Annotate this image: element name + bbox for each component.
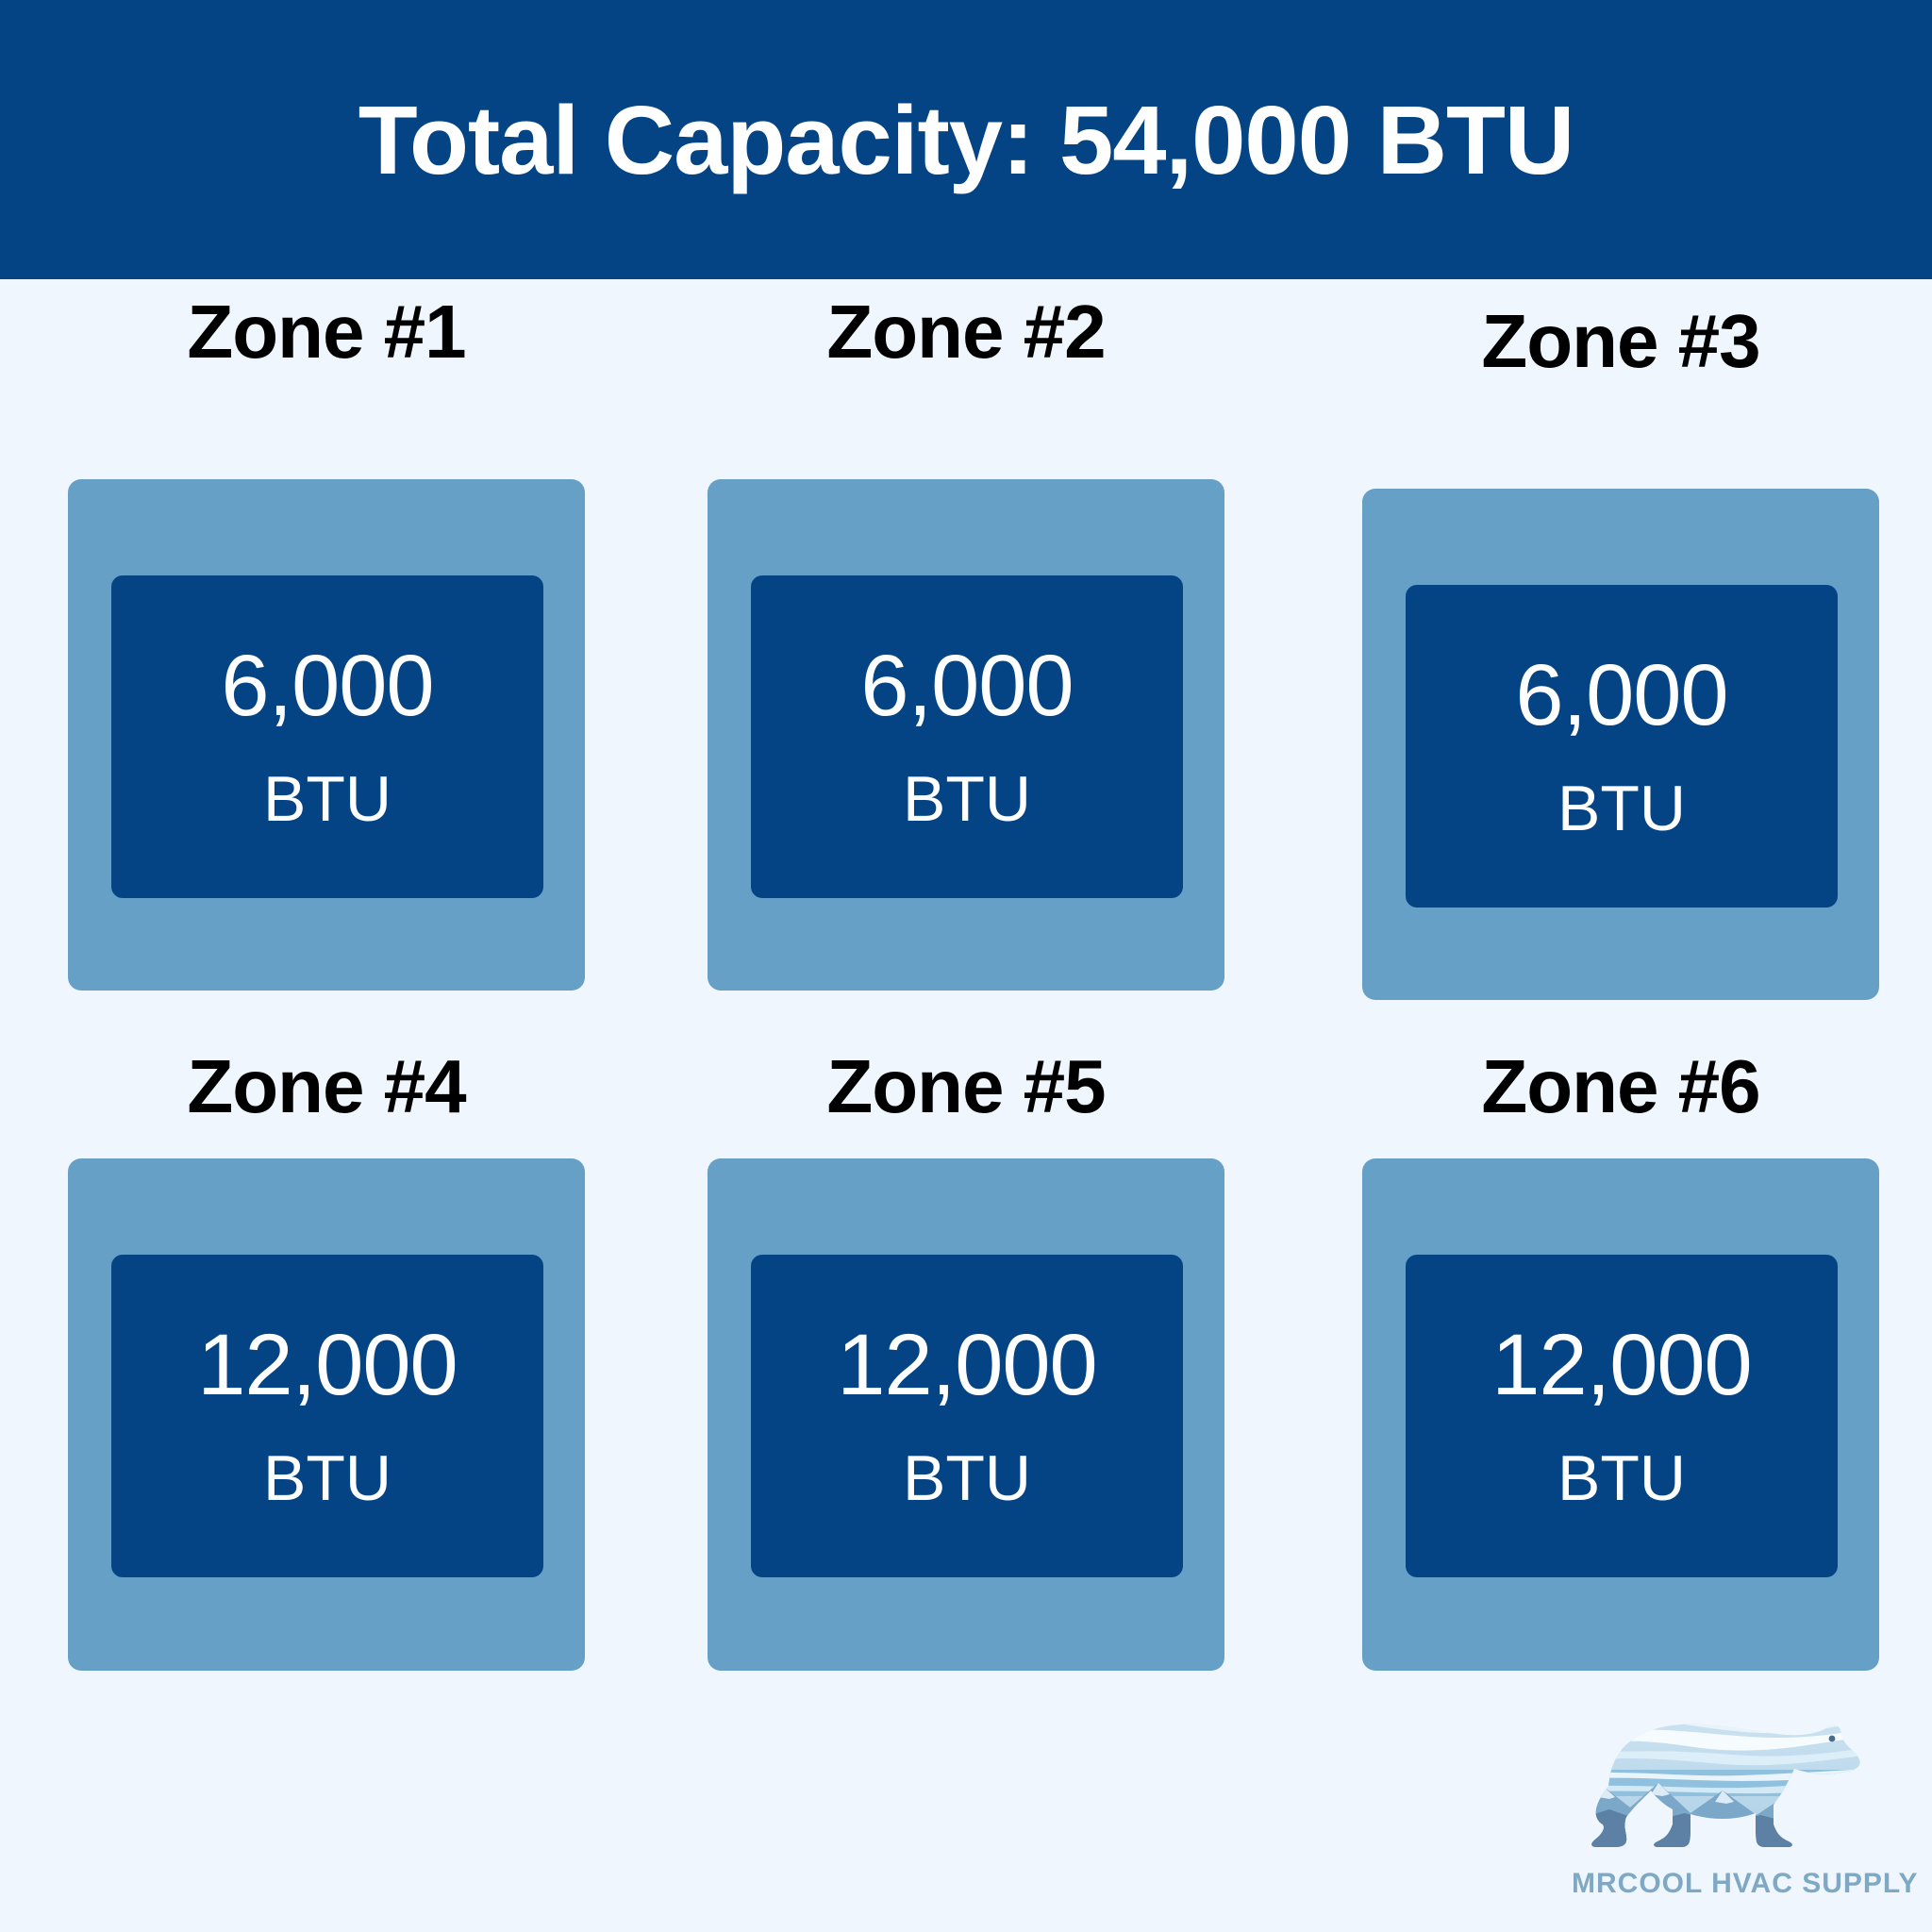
zone-card-4[interactable]: Zone #4 12,000 BTU bbox=[68, 1034, 585, 1675]
zone-btu-value-4: 12,000 bbox=[197, 1322, 457, 1408]
polar-bear-icon bbox=[1572, 1704, 1883, 1866]
zone-card-2[interactable]: Zone #2 6,000 BTU bbox=[708, 279, 1224, 996]
zone-btu-unit-1: BTU bbox=[263, 767, 391, 831]
zone-card-outer-5: 12,000 BTU bbox=[708, 1158, 1224, 1671]
bear-landscape-fill bbox=[1572, 1704, 1883, 1866]
zone-card-5[interactable]: Zone #5 12,000 BTU bbox=[708, 1034, 1224, 1675]
zone-btu-unit-5: BTU bbox=[903, 1446, 1031, 1510]
zone-label-5: Zone #5 bbox=[708, 1049, 1224, 1124]
zone-grid: Zone #1 6,000 BTU Zone #2 6,000 BTU Zone… bbox=[0, 279, 1932, 1694]
zone-btu-value-2: 6,000 bbox=[860, 642, 1073, 729]
zone-card-outer-6: 12,000 BTU bbox=[1362, 1158, 1879, 1671]
zone-label-3: Zone #3 bbox=[1362, 304, 1879, 379]
zone-card-outer-1: 6,000 BTU bbox=[68, 479, 585, 991]
bear-eye-icon bbox=[1829, 1736, 1836, 1742]
zone-card-outer-3: 6,000 BTU bbox=[1362, 489, 1879, 1000]
zone-capacity-box-5: 12,000 BTU bbox=[751, 1255, 1183, 1577]
zone-card-outer-4: 12,000 BTU bbox=[68, 1158, 585, 1671]
zone-btu-unit-3: BTU bbox=[1557, 776, 1686, 841]
page-title: Total Capacity: 54,000 BTU bbox=[358, 92, 1574, 189]
header-banner: Total Capacity: 54,000 BTU bbox=[0, 0, 1932, 279]
zone-card-outer-2: 6,000 BTU bbox=[708, 479, 1224, 991]
zone-btu-value-6: 12,000 bbox=[1491, 1322, 1751, 1408]
brand-logo: MRCOOL HVAC SUPPLY bbox=[1572, 1704, 1883, 1923]
zone-capacity-box-1: 6,000 BTU bbox=[111, 575, 543, 898]
zone-btu-unit-2: BTU bbox=[903, 767, 1031, 831]
zone-card-6[interactable]: Zone #6 12,000 BTU bbox=[1362, 1034, 1879, 1675]
zone-label-4: Zone #4 bbox=[68, 1049, 585, 1124]
zone-capacity-box-2: 6,000 BTU bbox=[751, 575, 1183, 898]
zone-card-1[interactable]: Zone #1 6,000 BTU bbox=[68, 279, 585, 996]
logo-wordmark: MRCOOL HVAC SUPPLY bbox=[1572, 1870, 1883, 1898]
zone-label-1: Zone #1 bbox=[68, 294, 585, 370]
zone-btu-unit-4: BTU bbox=[263, 1446, 391, 1510]
zone-btu-value-3: 6,000 bbox=[1515, 652, 1727, 739]
zone-capacity-box-6: 12,000 BTU bbox=[1406, 1255, 1838, 1577]
zone-capacity-box-4: 12,000 BTU bbox=[111, 1255, 543, 1577]
zone-card-3[interactable]: Zone #3 6,000 BTU bbox=[1362, 289, 1879, 1006]
zone-btu-value-1: 6,000 bbox=[221, 642, 433, 729]
zone-btu-value-5: 12,000 bbox=[837, 1322, 1096, 1408]
zone-btu-unit-6: BTU bbox=[1557, 1446, 1686, 1510]
zone-capacity-box-3: 6,000 BTU bbox=[1406, 585, 1838, 908]
zone-label-6: Zone #6 bbox=[1362, 1049, 1879, 1124]
zone-label-2: Zone #2 bbox=[708, 294, 1224, 370]
